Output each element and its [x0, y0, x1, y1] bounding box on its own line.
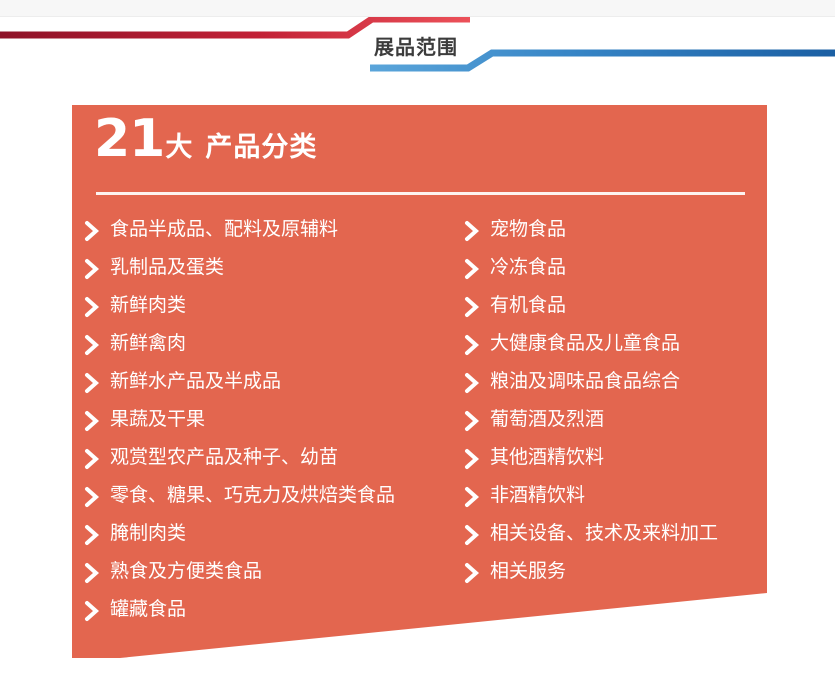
list-item[interactable]: 新鲜水产品及半成品: [84, 369, 469, 407]
chevron-right-icon: [464, 486, 480, 508]
chevron-right-icon: [464, 448, 480, 470]
chevron-right-icon: [464, 372, 480, 394]
category-count-unit: 大: [165, 132, 192, 163]
list-item-label: 宠物食品: [490, 217, 566, 241]
list-item[interactable]: 非酒精饮料: [464, 483, 764, 521]
chevron-right-icon: [84, 562, 100, 584]
list-item-label: 大健康食品及儿童食品: [490, 331, 680, 355]
chevron-right-icon: [464, 334, 480, 356]
list-item-label: 新鲜肉类: [110, 293, 186, 317]
chevron-right-icon: [84, 296, 100, 318]
list-item[interactable]: 罐藏食品: [84, 597, 469, 635]
chevron-right-icon: [84, 486, 100, 508]
chevron-right-icon: [84, 410, 100, 432]
list-item[interactable]: 相关服务: [464, 559, 764, 597]
chevron-right-icon: [84, 220, 100, 242]
list-item[interactable]: 食品半成品、配料及原辅料: [84, 217, 469, 255]
list-item[interactable]: 有机食品: [464, 293, 764, 331]
list-item-label: 腌制肉类: [110, 521, 186, 545]
chevron-right-icon: [84, 334, 100, 356]
list-item[interactable]: 冷冻食品: [464, 255, 764, 293]
list-item[interactable]: 葡萄酒及烈酒: [464, 407, 764, 445]
section-header: 展品范围: [0, 17, 835, 89]
chevron-right-icon: [84, 524, 100, 546]
chevron-right-icon: [464, 296, 480, 318]
list-item-label: 其他酒精饮料: [490, 445, 604, 469]
list-item[interactable]: 果蔬及干果: [84, 407, 469, 445]
list-item-label: 新鲜水产品及半成品: [110, 369, 281, 393]
panel-content: 21大产品分类 食品半成品、配料及原辅料 乳制品及蛋类: [72, 105, 767, 658]
chevron-right-icon: [464, 220, 480, 242]
chevron-right-icon: [84, 600, 100, 622]
list-item[interactable]: 新鲜肉类: [84, 293, 469, 331]
panel-divider: [96, 192, 745, 195]
list-item[interactable]: 宠物食品: [464, 217, 764, 255]
list-item-label: 粮油及调味品食品综合: [490, 369, 680, 393]
chevron-right-icon: [84, 258, 100, 280]
list-item-label: 罐藏食品: [110, 597, 186, 621]
list-item-label: 观赏型农产品及种子、幼苗: [110, 445, 338, 469]
list-item-label: 乳制品及蛋类: [110, 255, 224, 279]
list-item[interactable]: 新鲜禽肉: [84, 331, 469, 369]
list-item-label: 零食、糖果、巧克力及烘焙类食品: [110, 483, 395, 507]
page-title: 展品范围: [374, 37, 458, 57]
list-item[interactable]: 腌制肉类: [84, 521, 469, 559]
panel-heading: 21大产品分类: [94, 113, 317, 165]
list-item-label: 熟食及方便类食品: [110, 559, 262, 583]
list-item-label: 冷冻食品: [490, 255, 566, 279]
chevron-right-icon: [84, 372, 100, 394]
list-item[interactable]: 粮油及调味品食品综合: [464, 369, 764, 407]
chevron-right-icon: [464, 562, 480, 584]
category-count: 21: [94, 109, 164, 169]
list-item-label: 葡萄酒及烈酒: [490, 407, 604, 431]
list-item[interactable]: 熟食及方便类食品: [84, 559, 469, 597]
red-rule: [0, 19, 470, 35]
list-item[interactable]: 相关设备、技术及来料加工: [464, 521, 764, 559]
list-item[interactable]: 大健康食品及儿童食品: [464, 331, 764, 369]
list-item-label: 相关服务: [490, 559, 566, 583]
list-item-label: 新鲜禽肉: [110, 331, 186, 355]
chevron-right-icon: [464, 524, 480, 546]
chevron-right-icon: [84, 448, 100, 470]
chevron-right-icon: [464, 258, 480, 280]
list-item-label: 果蔬及干果: [110, 407, 205, 431]
category-column-left: 食品半成品、配料及原辅料 乳制品及蛋类 新鲜肉类: [84, 217, 469, 635]
list-item[interactable]: 观赏型农产品及种子、幼苗: [84, 445, 469, 483]
top-strip: [0, 0, 835, 17]
list-item-label: 有机食品: [490, 293, 566, 317]
category-column-right: 宠物食品 冷冻食品 有机食品: [464, 217, 764, 597]
chevron-right-icon: [464, 410, 480, 432]
list-item-label: 相关设备、技术及来料加工: [490, 521, 718, 545]
panel-heading-text: 产品分类: [205, 132, 317, 163]
list-item[interactable]: 乳制品及蛋类: [84, 255, 469, 293]
list-item-label: 食品半成品、配料及原辅料: [110, 217, 338, 241]
list-item-label: 非酒精饮料: [490, 483, 585, 507]
list-item[interactable]: 零食、糖果、巧克力及烘焙类食品: [84, 483, 469, 521]
list-item[interactable]: 其他酒精饮料: [464, 445, 764, 483]
